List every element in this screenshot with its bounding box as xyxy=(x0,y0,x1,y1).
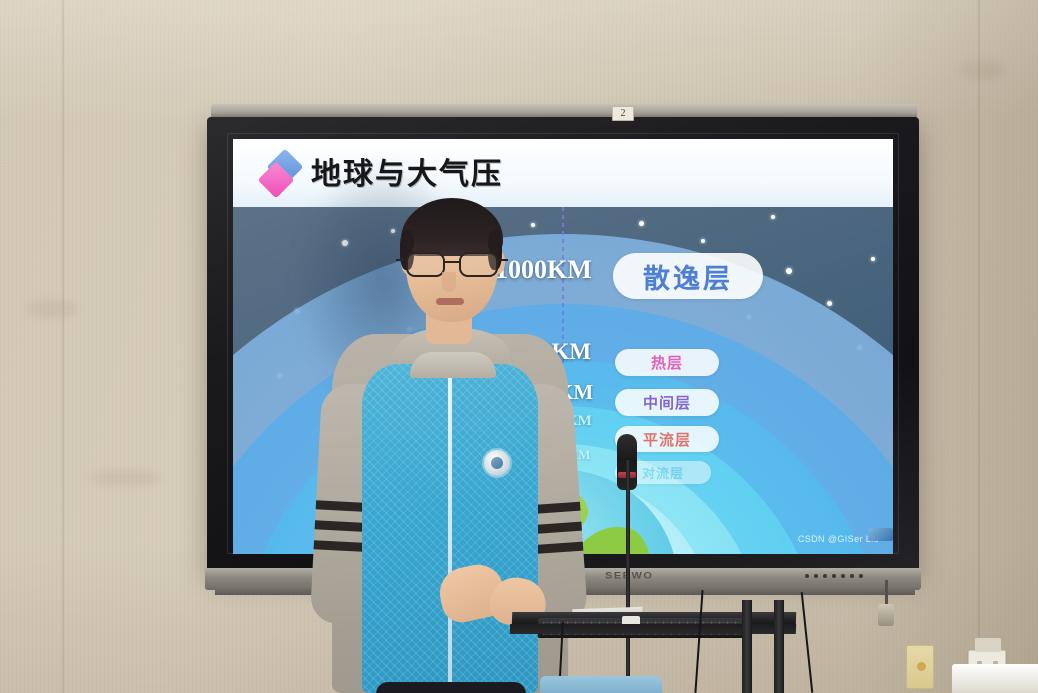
sticker-dot-icon xyxy=(917,662,926,671)
slide-watermark: CSDN @GISer Liu xyxy=(798,534,879,544)
microphone-stand xyxy=(626,460,630,693)
vest-zipper xyxy=(448,368,452,688)
atmosphere-layer-label: 散逸层 xyxy=(613,253,763,299)
display-asset-tag: 2 xyxy=(612,106,634,121)
glasses-bridge xyxy=(445,261,459,263)
chair-backrest xyxy=(540,676,662,693)
display-corner-logo xyxy=(869,528,893,541)
glasses-lens-left xyxy=(406,252,445,277)
star-icon xyxy=(639,221,644,226)
presenter-vest xyxy=(362,364,538,693)
star-icon xyxy=(871,257,875,261)
star-icon xyxy=(786,268,792,274)
wall-scuff-a xyxy=(26,300,78,318)
star-icon xyxy=(701,239,705,243)
presenter-nose xyxy=(442,272,456,292)
presenter-collar xyxy=(410,352,496,378)
glasses-temple-left xyxy=(396,259,406,261)
presenter-legs xyxy=(376,682,526,693)
wall-label-sticker xyxy=(906,645,934,689)
display-sensor-dots xyxy=(805,574,863,578)
wall-scuff-b xyxy=(90,470,160,486)
presenter-mouth xyxy=(436,298,464,305)
atmosphere-layer-label: 中间层 xyxy=(615,389,719,416)
floor-object xyxy=(952,664,1038,693)
stand-shelf-front xyxy=(510,624,796,634)
classroom-scene: 2 地球与大气压 xyxy=(0,0,1038,693)
atmosphere-layer-label: 热层 xyxy=(615,349,719,376)
star-icon xyxy=(771,215,775,219)
hanging-key[interactable] xyxy=(878,604,894,626)
stand-post-right xyxy=(774,600,784,693)
vest-badge-icon xyxy=(484,450,510,476)
star-icon xyxy=(827,301,832,306)
glasses-lens-right xyxy=(459,252,498,277)
glasses-temple-right xyxy=(498,259,508,261)
outlet-plug xyxy=(975,638,1001,652)
stand-post-left xyxy=(742,600,752,693)
